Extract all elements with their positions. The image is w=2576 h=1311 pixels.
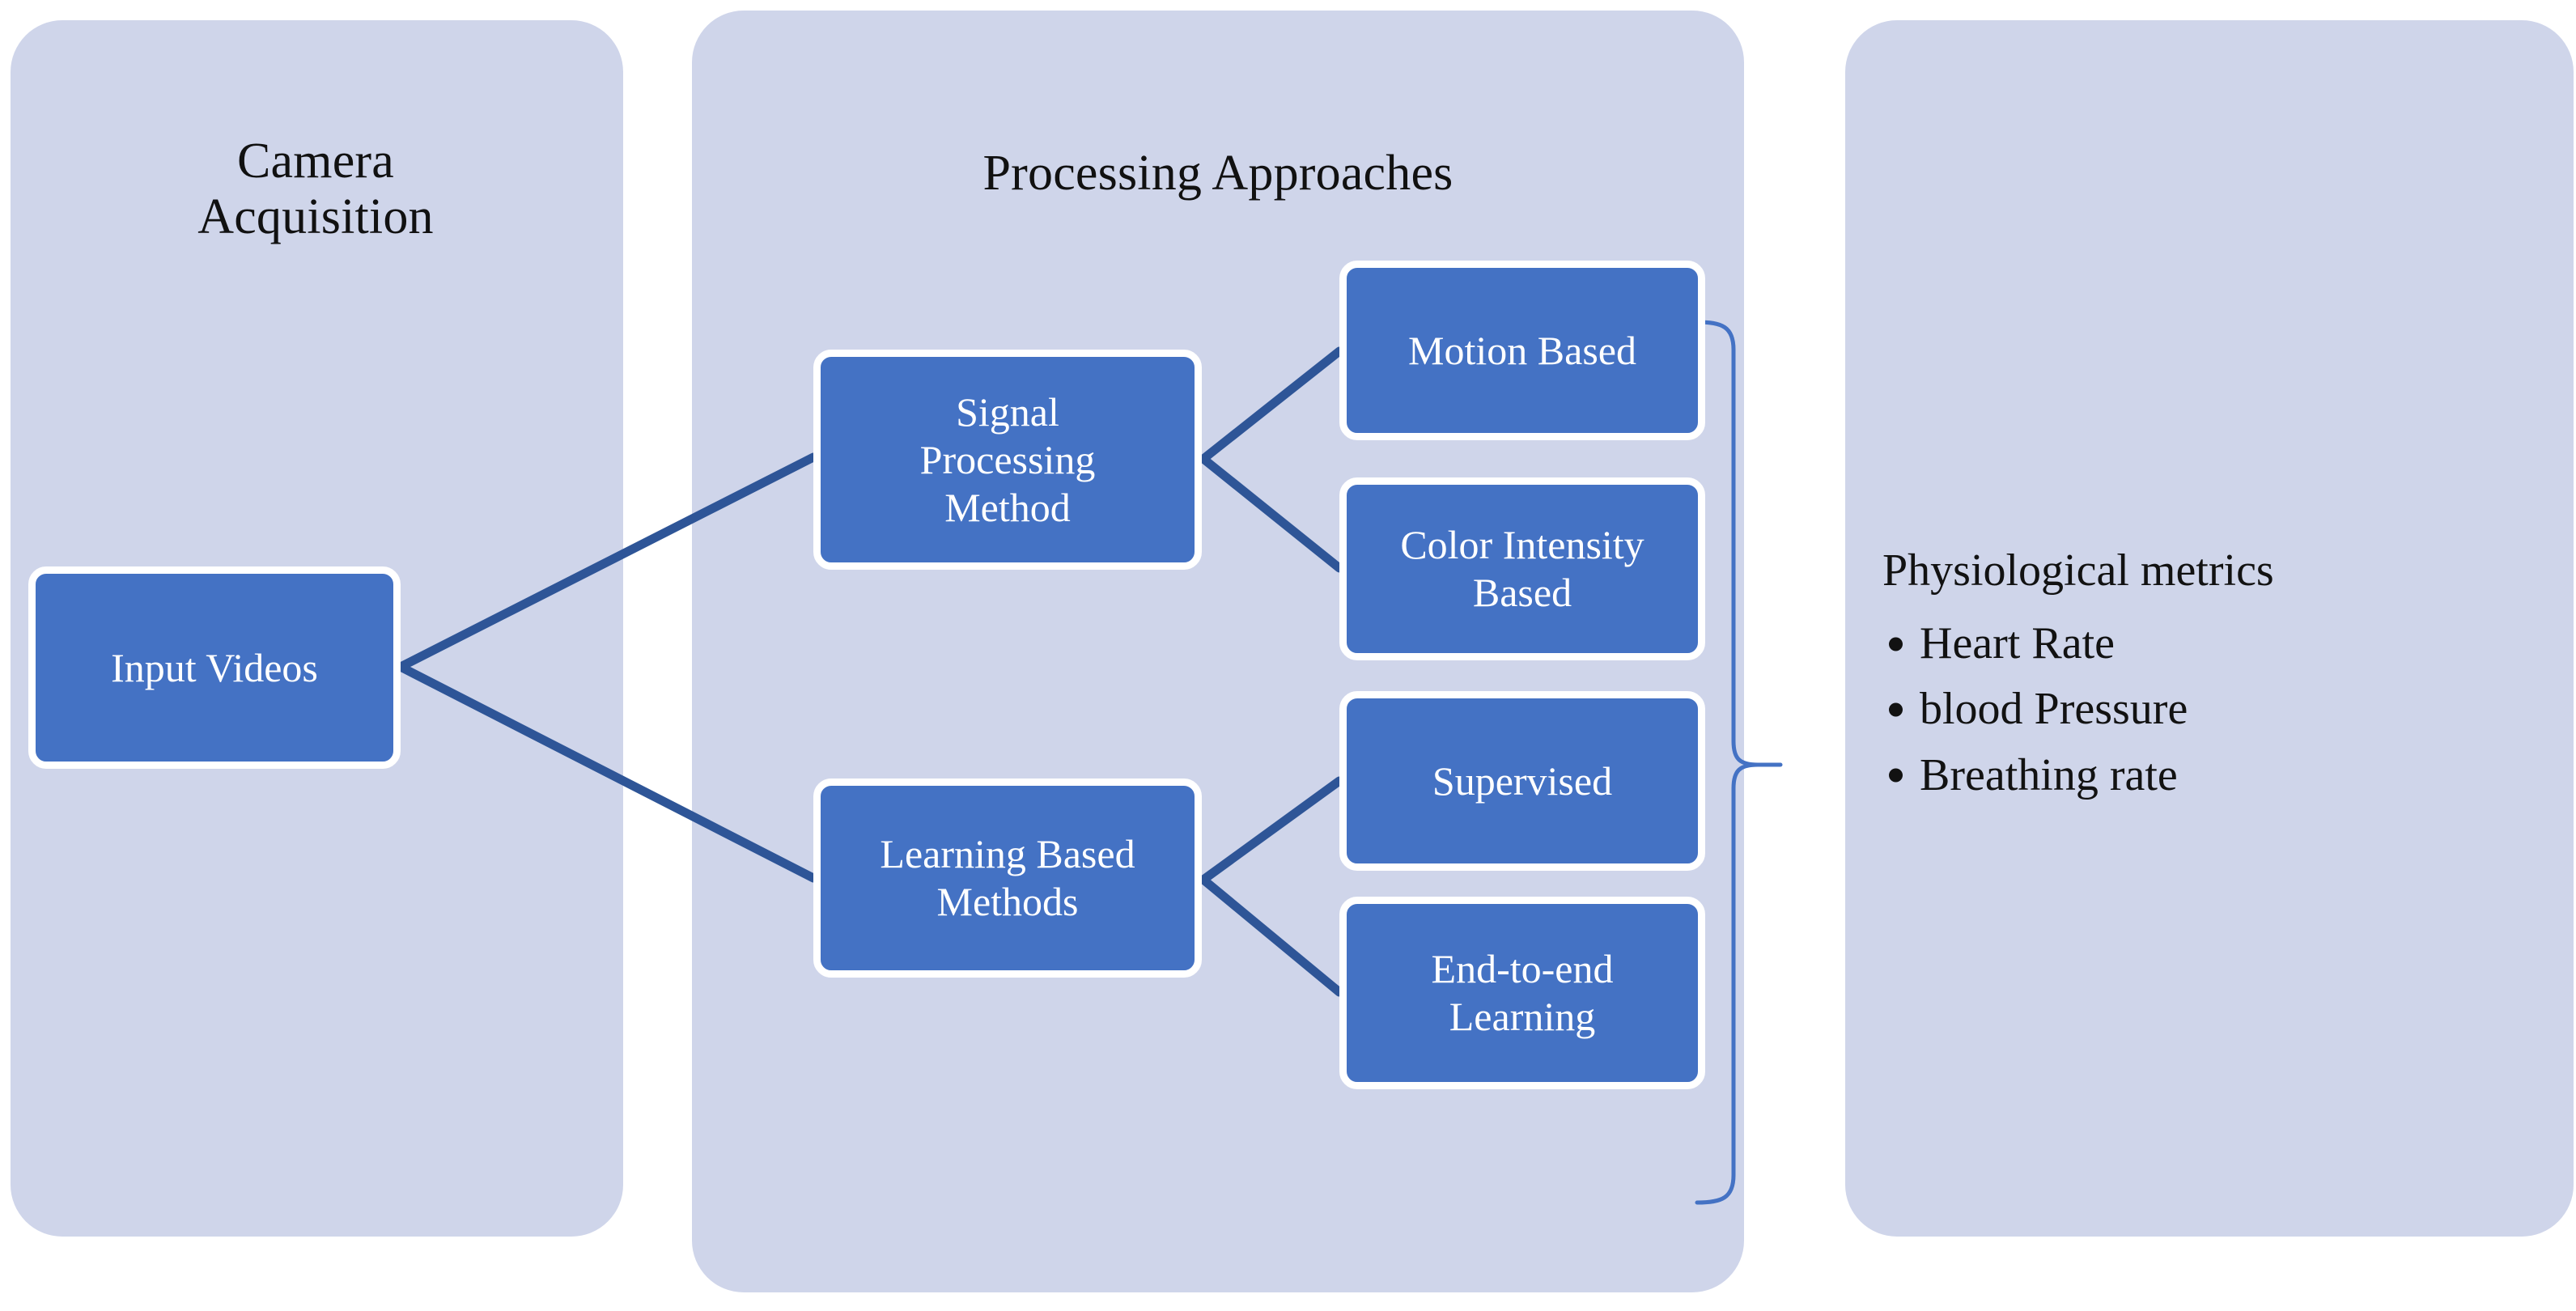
- node-input-videos[interactable]: Input Videos: [28, 566, 401, 769]
- bullet-icon: [1889, 702, 1903, 716]
- metrics-heading: Physiological metrics: [1882, 544, 2522, 598]
- node-supervised[interactable]: Supervised: [1339, 691, 1705, 871]
- metrics-list-item-label: Heart Rate: [1920, 618, 2115, 668]
- node-learning-based-methods[interactable]: Learning Based Methods: [813, 779, 1202, 978]
- diagram-canvas: Camera Acquisition Processing Approaches…: [0, 0, 2576, 1311]
- node-end-to-end-learning[interactable]: End-to-end Learning: [1339, 897, 1705, 1089]
- bullet-icon: [1889, 769, 1903, 783]
- panel-title-camera-acquisition: Camera Acquisition: [49, 134, 583, 246]
- bullet-icon: [1889, 637, 1903, 651]
- node-signal-processing-method[interactable]: Signal Processing Method: [813, 350, 1202, 570]
- panel-title-processing-approaches: Processing Approaches: [732, 146, 1704, 202]
- node-motion-based[interactable]: Motion Based: [1339, 261, 1705, 440]
- metrics-list-item: blood Pressure: [1882, 677, 2522, 742]
- metrics-block: Physiological metrics Heart Rateblood Pr…: [1882, 544, 2522, 808]
- node-color-intensity-based[interactable]: Color Intensity Based: [1339, 477, 1705, 660]
- metrics-list-item: Breathing rate: [1882, 743, 2522, 808]
- metrics-list-item-label: Breathing rate: [1920, 750, 2178, 800]
- metrics-list: Heart Rateblood PressureBreathing rate: [1882, 611, 2522, 808]
- metrics-list-item-label: blood Pressure: [1920, 684, 2188, 734]
- metrics-list-item: Heart Rate: [1882, 611, 2522, 677]
